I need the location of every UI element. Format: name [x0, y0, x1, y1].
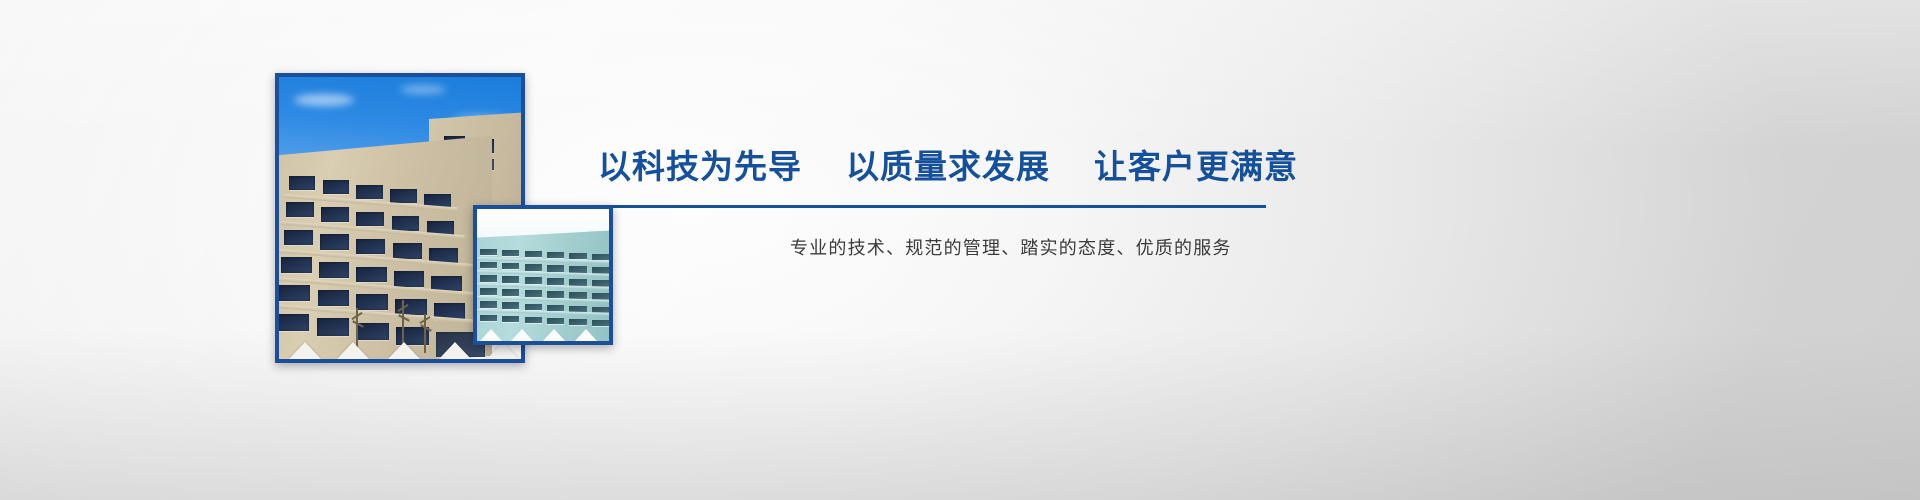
- window: [547, 318, 564, 325]
- window: [525, 264, 542, 271]
- window: [547, 278, 564, 285]
- tent: [289, 342, 321, 359]
- window: [319, 262, 349, 278]
- facade-ledge: [477, 296, 609, 303]
- window: [356, 239, 385, 254]
- window-grid-teal: [477, 209, 609, 341]
- window: [525, 251, 542, 258]
- facade-ledge: [477, 257, 609, 264]
- banner-subtitle: 专业的技术、规范的管理、踏实的态度、优质的服务: [790, 234, 1232, 260]
- window: [525, 304, 542, 311]
- window: [502, 250, 519, 257]
- window: [320, 234, 349, 249]
- window: [547, 265, 564, 272]
- window: [281, 257, 311, 273]
- headline-segment-3: 让客户更满意: [1094, 140, 1298, 188]
- facade-ledge: [477, 283, 609, 290]
- window: [525, 277, 542, 284]
- window: [289, 176, 316, 190]
- window: [480, 275, 497, 282]
- tent: [439, 342, 471, 359]
- window: [525, 290, 542, 297]
- window: [279, 314, 309, 331]
- window: [502, 289, 519, 296]
- window: [547, 291, 564, 298]
- window: [356, 294, 387, 310]
- company-banner: 以科技为先导以质量求发展让客户更满意 专业的技术、规范的管理、踏实的态度、优质的…: [0, 0, 1920, 500]
- window: [547, 252, 564, 259]
- window: [356, 185, 383, 199]
- window: [279, 285, 310, 301]
- facade-ledge: [477, 270, 609, 277]
- photo-second-content: [477, 209, 609, 341]
- window: [393, 243, 422, 258]
- tent-row-secondary: [477, 329, 609, 341]
- window: [502, 302, 519, 309]
- window: [502, 316, 519, 323]
- window: [502, 276, 519, 283]
- window: [569, 266, 586, 273]
- window: [356, 267, 386, 283]
- tent: [337, 342, 369, 359]
- photo-office-building-secondary: [473, 205, 613, 345]
- window: [318, 290, 349, 306]
- window: [480, 301, 497, 308]
- window: [323, 180, 350, 194]
- window: [321, 207, 349, 222]
- tent: [543, 329, 565, 341]
- tent: [511, 329, 533, 341]
- window: [592, 320, 609, 327]
- window: [480, 249, 497, 256]
- banner-headline: 以科技为先导以质量求发展让客户更满意: [598, 140, 1298, 188]
- window: [392, 216, 420, 231]
- headline-segment-2: 以质量求发展: [846, 140, 1050, 188]
- window: [525, 317, 542, 324]
- window: [395, 299, 426, 315]
- facade-ledge: [477, 309, 609, 316]
- window: [569, 253, 586, 260]
- tent: [575, 329, 597, 341]
- window: [480, 262, 497, 269]
- window: [394, 271, 424, 287]
- window: [502, 263, 519, 270]
- tent: [480, 329, 502, 341]
- window: [284, 230, 313, 245]
- window: [480, 288, 497, 295]
- window: [390, 189, 417, 203]
- headline-divider: [612, 205, 1266, 208]
- tent: [388, 342, 420, 359]
- headline-segment-1: 以科技为先导: [598, 140, 802, 188]
- window: [480, 315, 497, 322]
- window: [286, 202, 314, 217]
- window: [569, 319, 586, 326]
- window: [356, 212, 384, 227]
